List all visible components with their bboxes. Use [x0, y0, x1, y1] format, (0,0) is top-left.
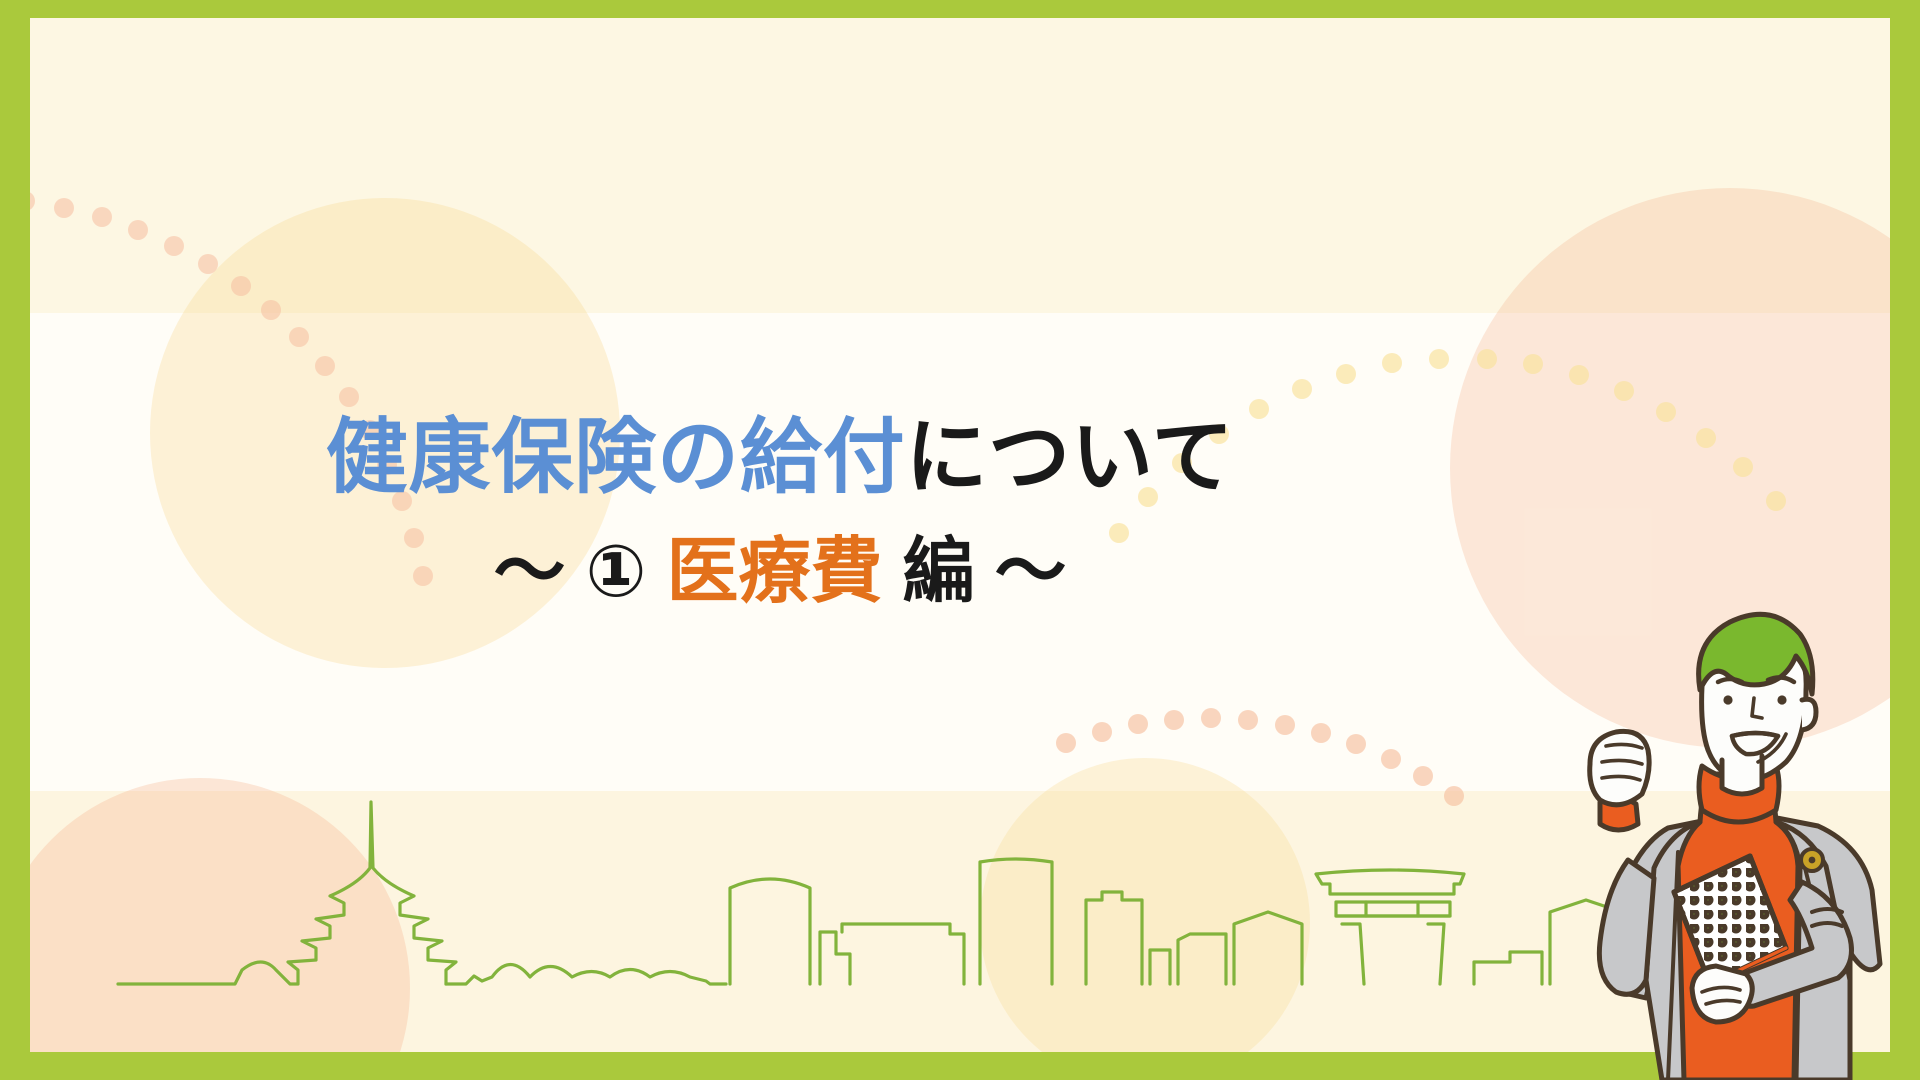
- lower-hand: [1692, 966, 1752, 1022]
- page-subtitle-suffix: 編 〜: [882, 532, 1066, 612]
- page-title-highlight: 健康保険の給付: [326, 412, 906, 503]
- character-illustration: [1550, 560, 1910, 1080]
- title-block: 健康保険の給付について 〜 ① 医療費 編 〜: [30, 410, 1530, 615]
- page-subtitle-prefix: 〜 ①: [493, 532, 666, 612]
- slide-frame: 健康保険の給付について 〜 ① 医療費 編 〜: [0, 0, 1920, 1080]
- page-title-rest: について: [905, 412, 1234, 503]
- page-title: 健康保険の給付について: [30, 410, 1530, 507]
- torii-gate-icon: [1316, 870, 1464, 984]
- lapel-pin: [1801, 849, 1823, 871]
- page-subtitle-highlight: 医療費: [666, 532, 882, 612]
- page-subtitle: 〜 ① 医療費 編 〜: [30, 529, 1530, 615]
- pagoda-icon: [118, 802, 456, 984]
